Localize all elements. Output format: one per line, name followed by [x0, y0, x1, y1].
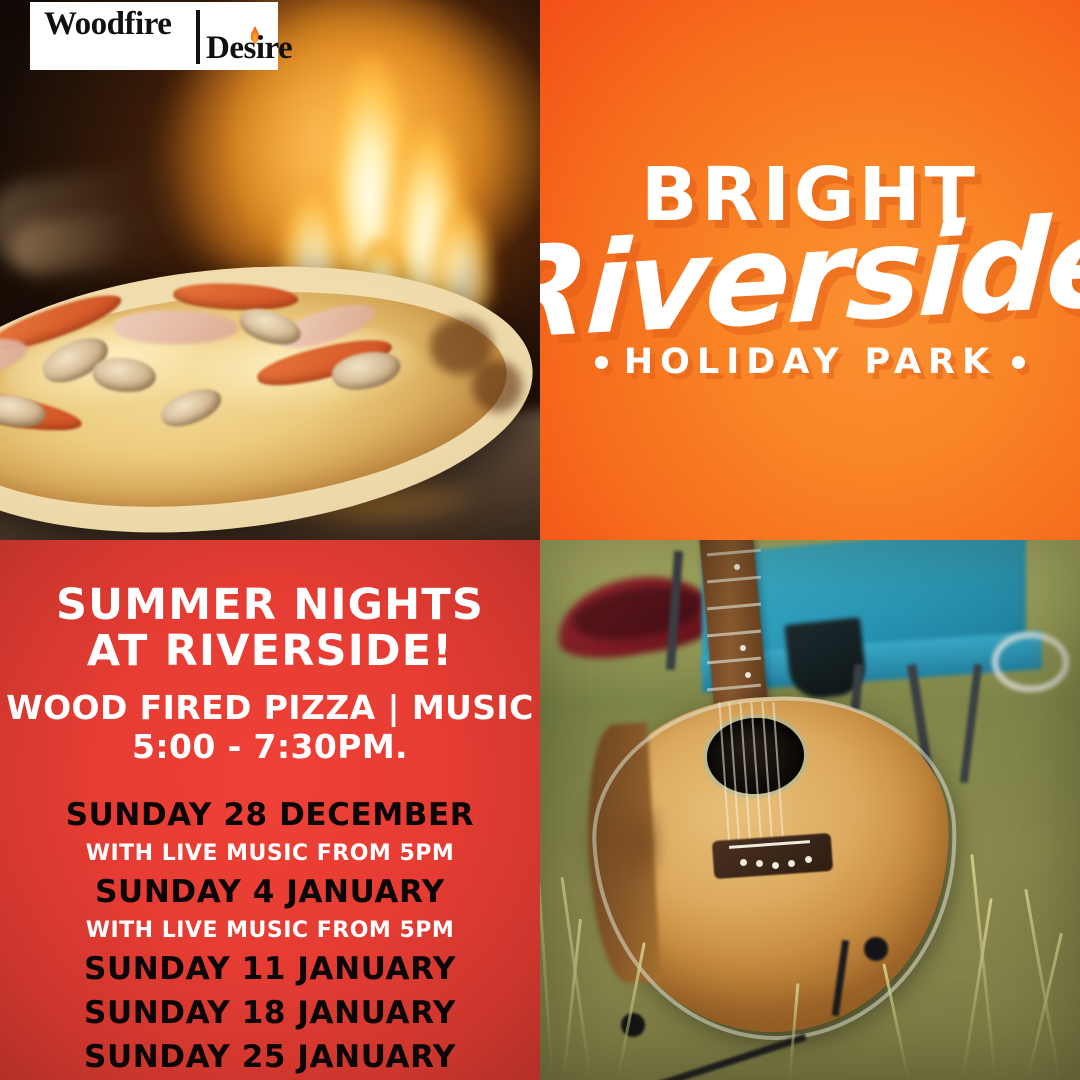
ham-slice — [113, 311, 238, 345]
event-date: SUNDAY 25 JANUARY — [84, 1035, 456, 1079]
woodfire-desire-logo: Woodfire Desire — [30, 2, 278, 70]
bright-riverside-logo-panel: BRIGHT Riverside HOLIDAY PARK — [540, 0, 1080, 540]
event-date: SUNDAY 28 DECEMBER — [66, 793, 475, 837]
subheadline-line-2: 5:00 - 7:30PM. — [6, 728, 533, 767]
photo-vignette — [540, 540, 1080, 1080]
subheadline-line-1: WOOD FIRED PIZZA | MUSIC — [6, 689, 533, 728]
acoustic-guitar-photo — [540, 540, 1080, 1080]
wood-fired-pizza-photo: Woodfire Desire — [0, 0, 540, 540]
promo-poster: Woodfire Desire BRIGHT Riverside HOLIDAY… — [0, 0, 1080, 1080]
logo-text-riverside: Riverside — [540, 207, 1080, 349]
headline-line-2: AT RIVERSIDE! — [56, 628, 484, 674]
event-date-note: WITH LIVE MUSIC FROM 5PM — [86, 837, 455, 870]
logo-word-woodfire: Woodfire — [44, 6, 171, 43]
logo-word-desire: Desire — [206, 30, 292, 67]
subheadline: WOOD FIRED PIZZA | MUSIC 5:00 - 7:30PM. — [6, 689, 533, 767]
bullet-dot-icon — [1012, 356, 1025, 369]
event-date: SUNDAY 4 JANUARY — [95, 870, 445, 914]
logo-divider-bar — [196, 10, 200, 64]
event-date-list: SUNDAY 28 DECEMBER WITH LIVE MUSIC FROM … — [66, 793, 475, 1079]
headline-line-1: SUMMER NIGHTS — [56, 582, 484, 628]
event-date-note: WITH LIVE MUSIC FROM 5PM — [86, 914, 455, 947]
headline: SUMMER NIGHTS AT RIVERSIDE! — [56, 582, 484, 675]
event-date: SUNDAY 11 JANUARY — [84, 947, 456, 991]
event-info-panel: SUMMER NIGHTS AT RIVERSIDE! WOOD FIRED P… — [0, 540, 540, 1080]
event-date: SUNDAY 18 JANUARY — [84, 991, 456, 1035]
